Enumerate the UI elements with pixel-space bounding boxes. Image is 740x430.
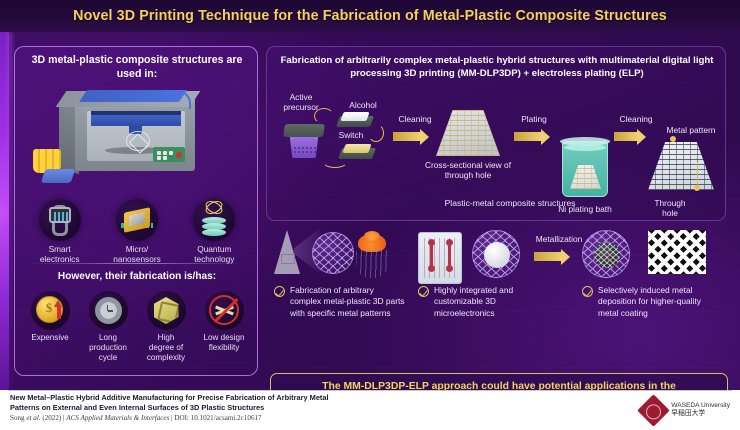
label-switch: Switch (330, 130, 372, 140)
arrow-plating (514, 132, 542, 141)
conclusion-text: The MM-DLP3DP-ELP approach could have po… (310, 380, 688, 390)
logo-text-en: WASEDA University (671, 402, 730, 410)
metal-patterned-frustum-icon (648, 142, 714, 190)
label-cleaning-2: Cleaning (612, 114, 660, 124)
metal-pattern-pointer-dot (670, 136, 676, 142)
alcohol-tray-icon (338, 112, 372, 127)
label-metal-pattern: Metal pattern (650, 125, 732, 135)
arrow-cleaning-2 (614, 132, 638, 141)
label-plating: Plating (512, 114, 556, 124)
paper-citation: Song et al. (2022) | ACS Applied Materia… (10, 414, 530, 423)
label-composite-structures: Plastic-metal composite structures (400, 198, 620, 208)
logo-text-jp: 早稲田大学 (671, 410, 730, 418)
poster-header: Novel 3D Printing Technique for the Fabr… (0, 0, 740, 32)
precursor-vat-icon (284, 124, 324, 160)
poster-footer: New Metal–Plastic Hybrid Additive Manufa… (0, 390, 740, 430)
label-alcohol: Alcohol (340, 100, 386, 110)
switch-arrow-right-icon (368, 124, 384, 142)
cross-section-frustum-icon (436, 110, 500, 156)
label-through-hole: Throughhole (646, 198, 694, 218)
waseda-diamond-icon (637, 394, 670, 427)
graphical-abstract-poster: Novel 3D Printing Technique for the Fabr… (0, 0, 740, 430)
page-title: Novel 3D Printing Technique for the Fabr… (73, 8, 667, 24)
footer-divider (8, 390, 732, 391)
university-logo: WASEDA University 早稲田大学 (610, 395, 730, 425)
switch-arrow-back-icon (322, 154, 348, 168)
arrow-cleaning-1 (393, 132, 421, 141)
poster-body: 3D metal-plastic composite structures ar… (0, 32, 740, 390)
ni-plating-bath-icon (562, 137, 608, 199)
through-hole-leader-line (697, 162, 698, 187)
label-cross-section: Cross-sectional view ofthrough hole (412, 160, 524, 180)
paper-title: New Metal–Plastic Hybrid Additive Manufa… (10, 393, 510, 412)
switch-arrow-up-icon (314, 108, 334, 124)
conclusion-box: The MM-DLP3DP-ELP approach could have po… (270, 373, 728, 390)
process-flow-graphics: Activeprecursor Alcohol Switch (0, 32, 740, 390)
label-cleaning-1: Cleaning (390, 114, 440, 124)
